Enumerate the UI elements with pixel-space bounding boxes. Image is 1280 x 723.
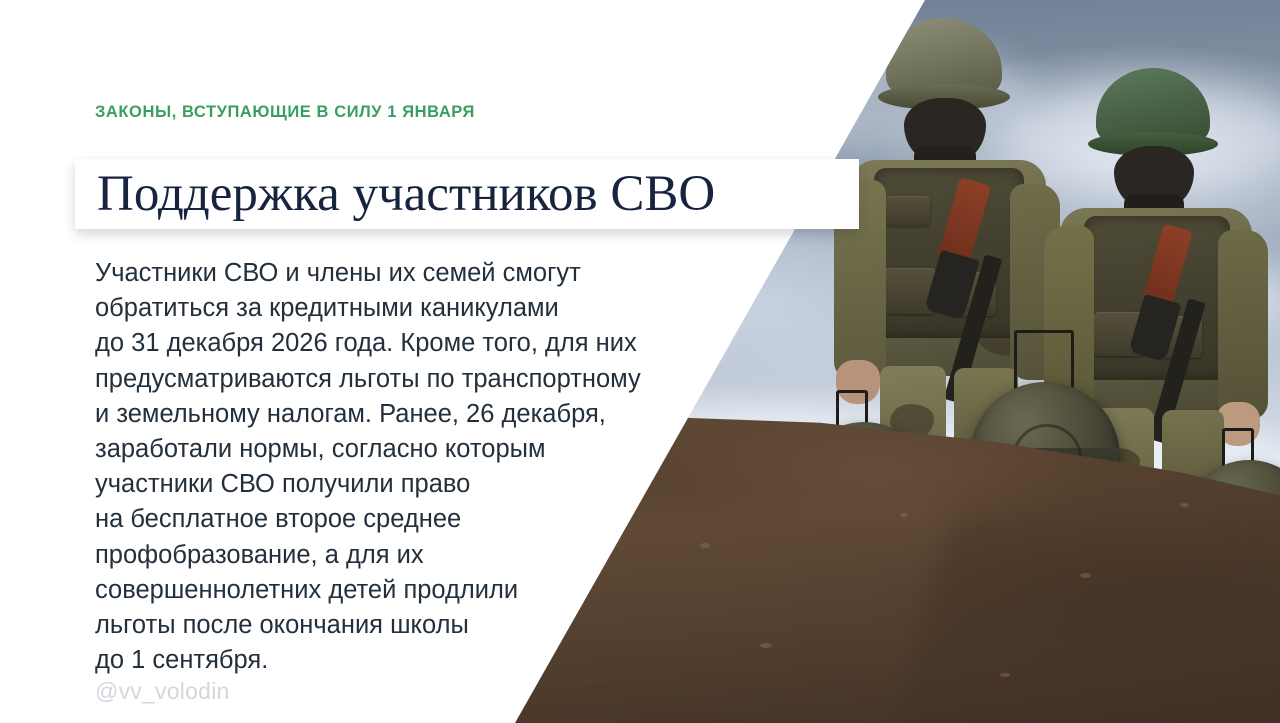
- ground-texture-speck: [1180, 503, 1189, 507]
- page-title: Поддержка участников СВО: [97, 160, 857, 228]
- infographic-card: ЗАКОНЫ, ВСТУПАЮЩИЕ В СИЛУ 1 ЯНВАРЯ Подде…: [0, 0, 1280, 723]
- ground-texture-speck: [1000, 673, 1010, 677]
- body-text: Участники СВО и члены их семей смогут об…: [95, 256, 715, 678]
- channel-handle-watermark: @vv_volodin: [95, 678, 230, 705]
- ground-texture-speck: [760, 643, 772, 648]
- ground-texture-speck: [1080, 573, 1091, 578]
- ammo-pouch: [886, 196, 930, 226]
- arm-right: [1218, 230, 1268, 420]
- ground-texture-speck: [900, 513, 908, 517]
- kicker-label: ЗАКОНЫ, ВСТУПАЮЩИЕ В СИЛУ 1 ЯНВАРЯ: [95, 103, 475, 122]
